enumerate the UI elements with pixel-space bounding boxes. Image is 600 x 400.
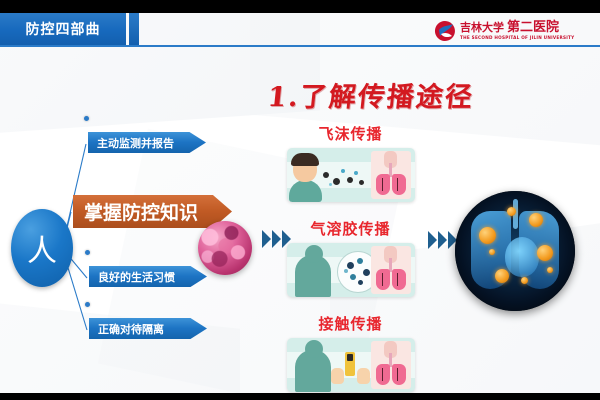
virus-particle (547, 267, 553, 273)
chevron-right-triple-icon (428, 231, 457, 249)
logo-hospital: 第二医院 (507, 21, 559, 34)
logo-text: 吉林大学 第二医院 THE SECOND HOSPITAL OF JILIN U… (460, 21, 574, 40)
tag-label: 主动监测并报告 (97, 135, 174, 151)
tag-label: 良好的生活习惯 (98, 269, 175, 285)
letterbox-top (0, 0, 600, 13)
virus-microscopy-image (198, 221, 252, 275)
letterbox-bottom (0, 393, 600, 400)
infected-lungs-circle-image (455, 191, 575, 311)
mindmap-center-node: 人 (11, 209, 73, 287)
mindmap-tag-monitor-report[interactable]: 主动监测并报告 (88, 132, 206, 153)
virus-particle (479, 227, 496, 244)
header-banner-label: 防控四部曲 (26, 19, 101, 39)
logo-university: 吉林大学 (460, 22, 504, 33)
virus-particle (537, 245, 553, 261)
hospital-logo: 吉林大学 第二医院 THE SECOND HOSPITAL OF JILIN U… (434, 16, 594, 46)
chevron-right-triple-icon (262, 230, 291, 248)
logo-english: THE SECOND HOSPITAL OF JILIN UNIVERSITY (460, 36, 574, 40)
mindmap-center-label: 人 (27, 226, 57, 270)
header-accent-tab (129, 13, 139, 45)
tag-label: 掌握防控知识 (84, 198, 198, 225)
virus-particle (529, 213, 543, 227)
header-banner: 防控四部曲 (0, 13, 126, 45)
slide-content: 人 主动监测并报告 掌握防控知识 良好的生活习惯 正确对待隔离 飞沫传播 (0, 13, 600, 393)
tag-label: 正确对待隔离 (98, 321, 164, 337)
mindmap-tag-correct-isolation[interactable]: 正确对待隔离 (89, 318, 207, 339)
page-title: 1.了解传播途径 (266, 75, 476, 114)
slide-canvas: 人 主动监测并报告 掌握防控知识 良好的生活习惯 正确对待隔离 飞沫传播 (0, 0, 600, 400)
connector-dot (84, 116, 89, 121)
virus-particle (507, 207, 516, 216)
mindmap-tag-good-habits[interactable]: 良好的生活习惯 (89, 266, 207, 287)
virus-particle (489, 249, 495, 255)
connector-dot (85, 250, 90, 255)
connector-dot (85, 302, 90, 307)
virus-particle (521, 277, 528, 284)
virus-particle (495, 269, 509, 283)
red-swoosh-logo-icon (434, 20, 456, 42)
